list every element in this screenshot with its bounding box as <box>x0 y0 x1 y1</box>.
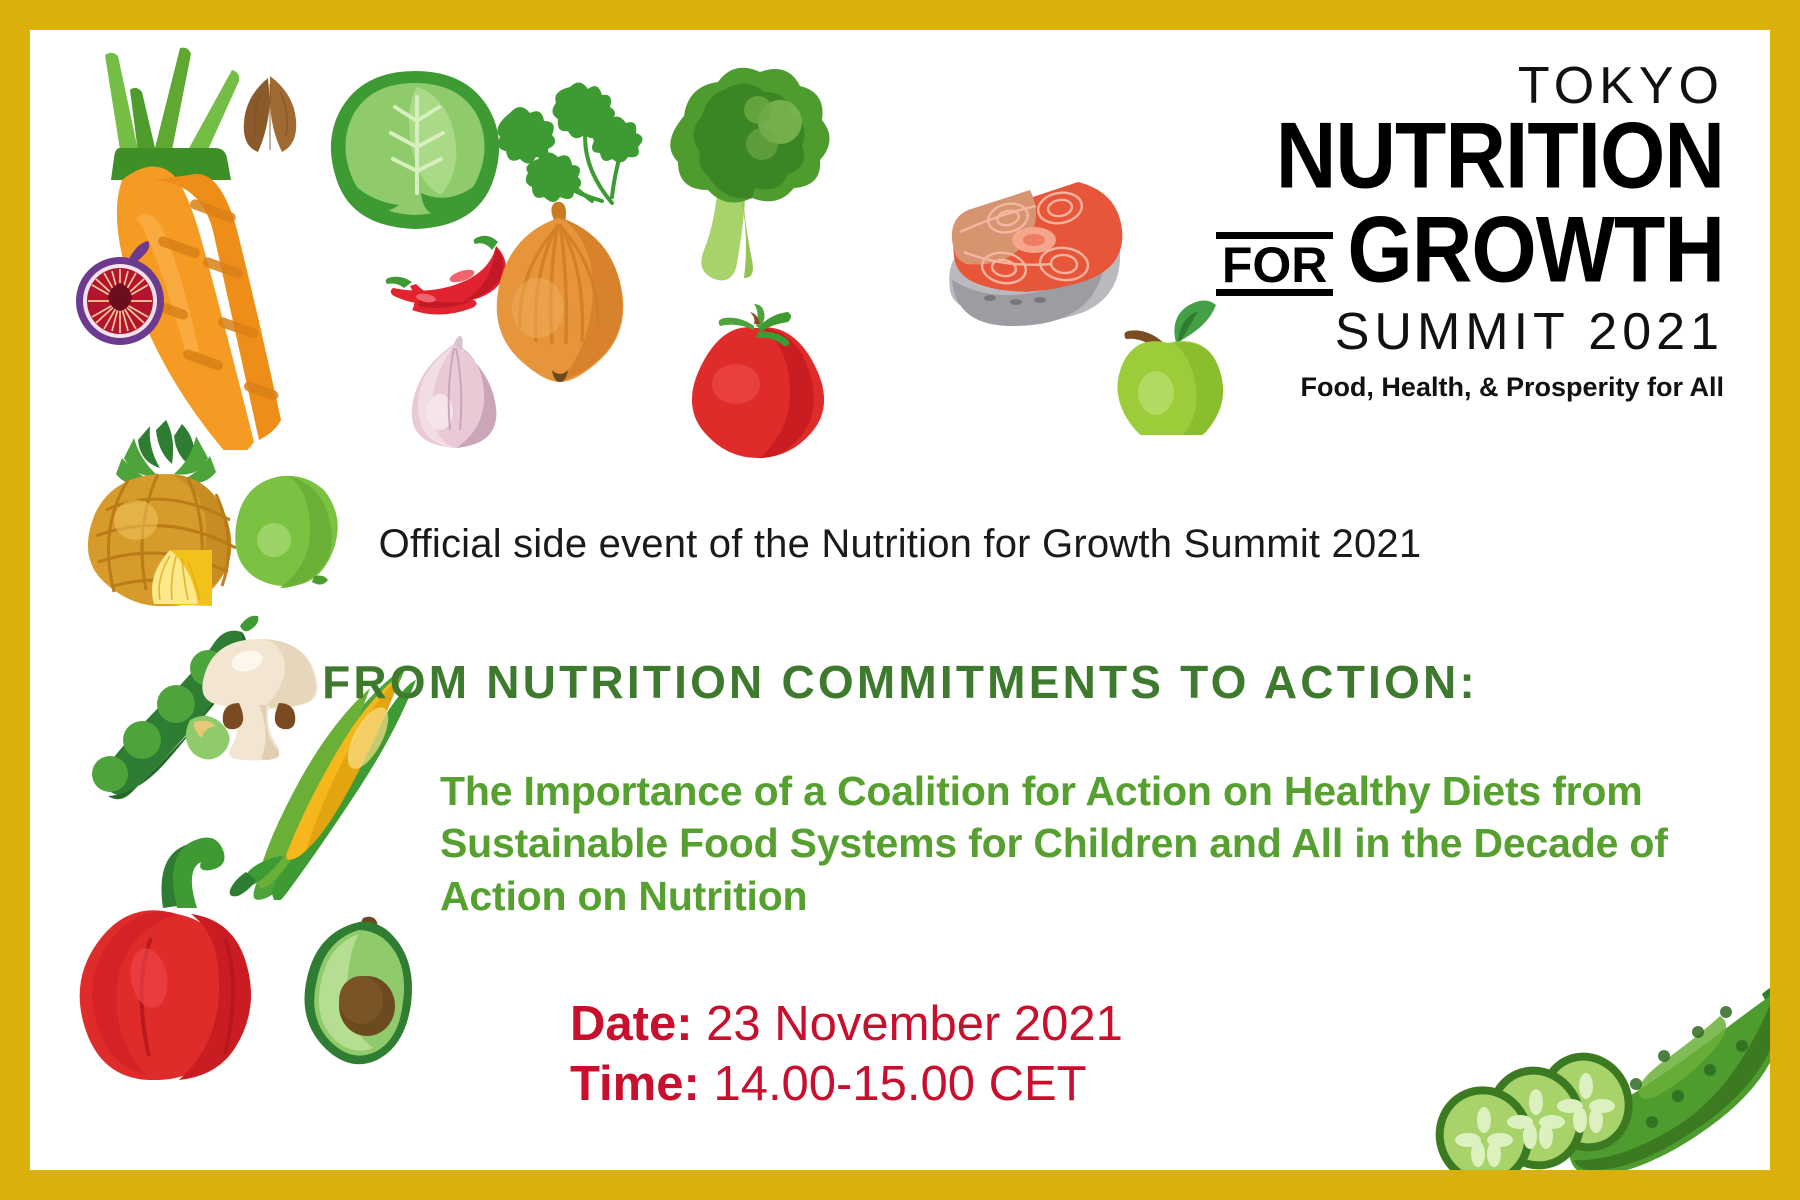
avocado-half-illustration <box>295 910 425 1070</box>
logo-summit-year: SUMMIT 2021 <box>1164 306 1724 358</box>
event-time-row: Time: 14.00-15.00 CET <box>570 1055 1123 1115</box>
event-subtitle: The Importance of a Coalition for Action… <box>440 765 1680 922</box>
official-side-event-line: Official side event of the Nutrition for… <box>30 522 1770 567</box>
fig-half-illustration <box>68 235 178 355</box>
tomato-illustration <box>670 300 840 460</box>
logo-growth: GROWTH <box>1347 202 1724 296</box>
event-headline: FROM NUTRITION COMMITMENTS TO ACTION: <box>30 655 1770 709</box>
event-details: Date: 23 November 2021 Time: 14.00-15.00… <box>570 995 1123 1115</box>
logo-for: FOR <box>1216 232 1334 297</box>
cucumber-illustration <box>1420 960 1770 1170</box>
event-date-row: Date: 23 November 2021 <box>570 995 1123 1055</box>
garlic-illustration <box>390 330 520 460</box>
date-value: 23 November 2021 <box>706 997 1123 1051</box>
logo-nutrition: NUTRITION <box>1164 108 1724 202</box>
broccoli-illustration <box>630 60 830 290</box>
date-label: Date: <box>570 997 693 1051</box>
red-bell-pepper-illustration <box>65 830 305 1080</box>
summit-logo: TOKYO NUTRITION FOR GROWTH SUMMIT 2021 F… <box>1164 60 1724 401</box>
logo-for-growth-row: FOR GROWTH <box>1164 212 1724 296</box>
poster-root: TOKYO NUTRITION FOR GROWTH SUMMIT 2021 F… <box>0 0 1800 1200</box>
poster-card: TOKYO NUTRITION FOR GROWTH SUMMIT 2021 F… <box>30 30 1770 1170</box>
time-label: Time: <box>570 1057 700 1111</box>
parsley-illustration <box>450 75 660 215</box>
logo-tagline: Food, Health, & Prosperity for All <box>1164 374 1724 401</box>
time-value: 14.00-15.00 CET <box>713 1057 1086 1111</box>
almond-illustration <box>230 68 310 158</box>
